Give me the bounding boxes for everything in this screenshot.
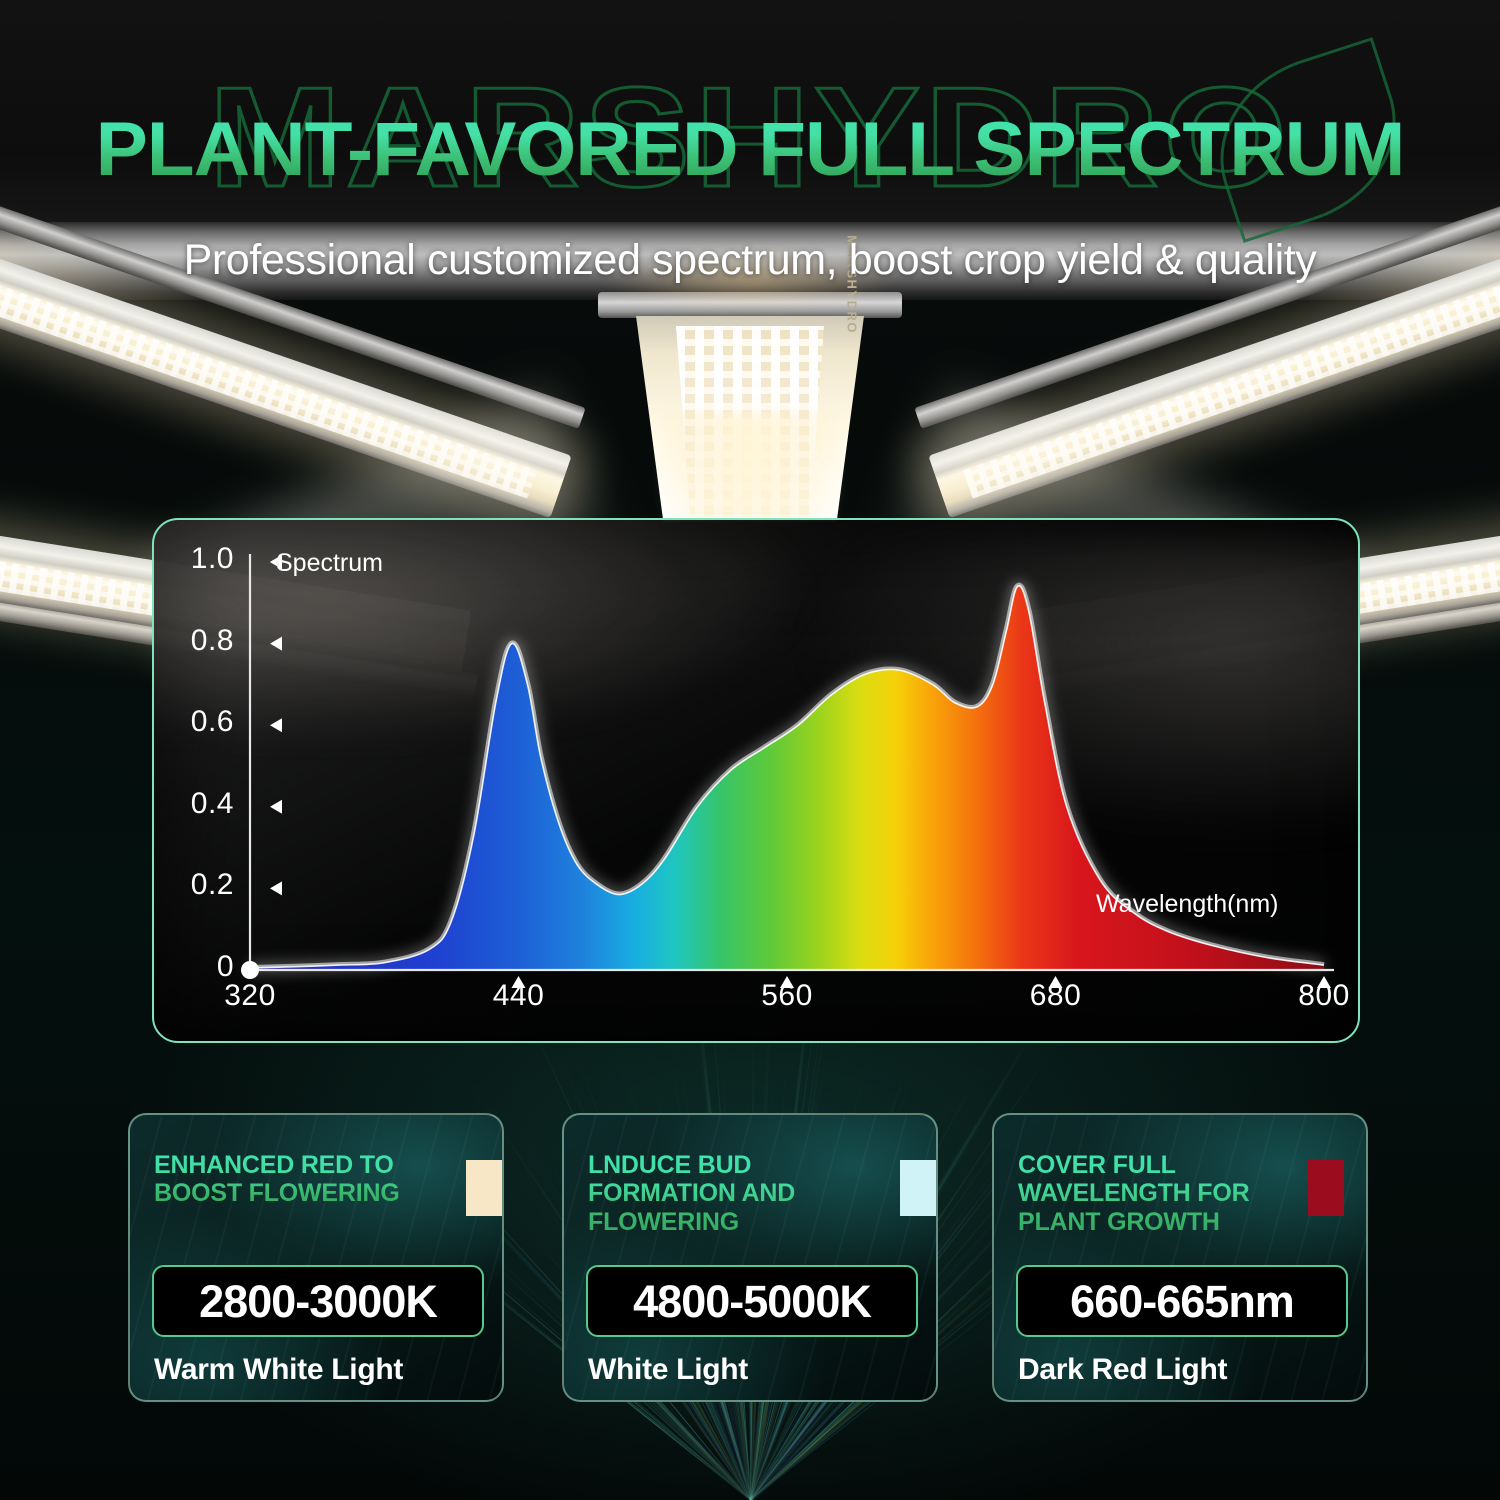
x-axis-title: Wavelength(nm) bbox=[1096, 890, 1278, 919]
feature-card-warm-white[interactable]: ENHANCED RED TO BOOST FLOWERING 2800-300… bbox=[128, 1113, 504, 1402]
value-text: 660-665nm bbox=[1070, 1279, 1294, 1324]
spectrum-plot bbox=[154, 520, 1358, 1041]
feature-card-white[interactable]: LNDUCE BUD FORMATION AND FLOWERING 4800-… bbox=[562, 1113, 938, 1402]
feature-card-row: ENHANCED RED TO BOOST FLOWERING 2800-300… bbox=[0, 1113, 1500, 1403]
y-tick-label: 0.4 bbox=[164, 787, 234, 821]
y-tick-marker bbox=[270, 637, 282, 651]
y-tick-marker bbox=[270, 800, 282, 814]
x-tick-markers bbox=[512, 976, 1332, 988]
y-tick-label: 0.8 bbox=[164, 624, 234, 658]
value-text: 4800-5000K bbox=[633, 1279, 871, 1324]
grow-light-fixture: MARSHYDRO bbox=[598, 292, 902, 522]
x-tick-label: 320 bbox=[190, 979, 310, 1013]
feature-card-dark-red[interactable]: COVER FULL WAVELENGTH FOR PLANT GROWTH 6… bbox=[992, 1113, 1368, 1402]
cool-white-swatch bbox=[900, 1160, 936, 1216]
y-tick-label: 0.2 bbox=[164, 868, 234, 902]
x-tick-label: 440 bbox=[459, 979, 579, 1013]
x-tick-label: 680 bbox=[996, 979, 1116, 1013]
y-tick-markers bbox=[270, 555, 282, 895]
card-footer: Warm White Light bbox=[154, 1353, 403, 1387]
value-badge: 4800-5000K bbox=[586, 1265, 918, 1337]
x-tick-label: 560 bbox=[727, 979, 847, 1013]
value-badge: 2800-3000K bbox=[152, 1265, 484, 1337]
origin-dot bbox=[241, 961, 259, 979]
page-subtitle: Professional customized spectrum, boost … bbox=[0, 236, 1500, 285]
card-footer: White Light bbox=[588, 1353, 748, 1387]
dark-red-swatch bbox=[1308, 1160, 1344, 1216]
card-heading: LNDUCE BUD FORMATION AND FLOWERING bbox=[588, 1151, 856, 1236]
y-axis-title: Spectrum bbox=[276, 549, 383, 578]
card-heading: ENHANCED RED TO BOOST FLOWERING bbox=[154, 1151, 422, 1208]
card-footer: Dark Red Light bbox=[1018, 1353, 1227, 1387]
card-heading: COVER FULL WAVELENGTH FOR PLANT GROWTH bbox=[1018, 1151, 1286, 1236]
y-tick-marker bbox=[270, 881, 282, 895]
value-badge: 660-665nm bbox=[1016, 1265, 1348, 1337]
promo-banner: MARSHYDRO MARSHYDRO PLANT-FAVORED FULL S… bbox=[0, 0, 1500, 1500]
value-text: 2800-3000K bbox=[199, 1279, 437, 1324]
x-tick-label: 800 bbox=[1264, 979, 1360, 1013]
y-tick-marker bbox=[270, 718, 282, 732]
y-tick-label: 1.0 bbox=[164, 542, 234, 576]
y-tick-label: 0.6 bbox=[164, 705, 234, 739]
page-title: PLANT-FAVORED FULL SPECTRUM bbox=[0, 112, 1500, 188]
spectrum-chart-panel: 00.20.40.60.81.0 320440560680800 Spectru… bbox=[152, 518, 1360, 1043]
warm-white-swatch bbox=[466, 1160, 502, 1216]
